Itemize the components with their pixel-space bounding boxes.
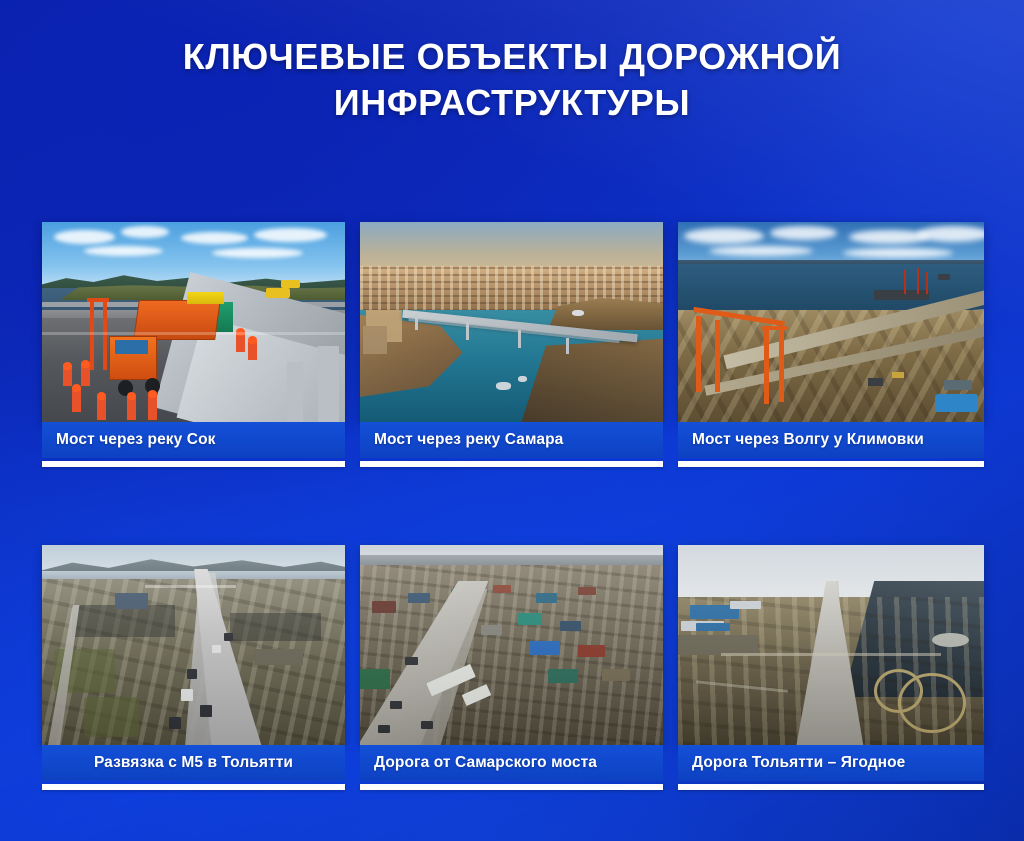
card-caption-text: Мост через реку Сок xyxy=(56,431,216,449)
sok-river-bridge-construction-photo xyxy=(42,222,345,422)
card-sok-bridge[interactable]: Мост через реку Сок xyxy=(42,222,345,468)
card-caption-text: Мост через реку Самара xyxy=(374,431,563,449)
card-underline xyxy=(360,461,663,467)
card-caption-text: Развязка с М5 в Тольятти xyxy=(94,754,293,772)
road-from-samara-bridge-photo xyxy=(360,545,663,745)
togliatti-yagodnoye-road-photo xyxy=(678,545,984,745)
card-caption-text: Мост через Волгу у Климовки xyxy=(692,431,924,449)
card-caption-bar: Дорога от Самарского моста xyxy=(360,745,663,781)
card-togliatti-yagodnoye-road[interactable]: Дорога Тольятти – Ягодное xyxy=(678,545,984,791)
card-caption-bar: Дорога Тольятти – Ягодное xyxy=(678,745,984,781)
volga-klimovka-bridge-site-photo xyxy=(678,222,984,422)
card-samara-bridge[interactable]: Мост через реку Самара xyxy=(360,222,663,468)
cards-grid: Мост через реку Сок Мост ч xyxy=(42,222,982,800)
card-caption-text: Дорога от Самарского моста xyxy=(374,754,597,772)
card-underline xyxy=(42,461,345,467)
card-caption-bar: Мост через Волгу у Климовки xyxy=(678,422,984,458)
page-title: КЛЮЧЕВЫЕ ОБЪЕКТЫ ДОРОЖНОЙ ИНФРАСТРУКТУРЫ xyxy=(0,34,1024,126)
card-m5-interchange[interactable]: Развязка с М5 в Тольятти xyxy=(42,545,345,791)
card-caption-text: Дорога Тольятти – Ягодное xyxy=(692,754,905,772)
card-caption-bar: Развязка с М5 в Тольятти xyxy=(42,745,345,781)
card-underline xyxy=(678,784,984,790)
card-caption-bar: Мост через реку Самара xyxy=(360,422,663,458)
card-klimovka-bridge[interactable]: Мост через Волгу у Климовки xyxy=(678,222,984,468)
card-caption-bar: Мост через реку Сок xyxy=(42,422,345,458)
row-gap-spacer xyxy=(42,468,984,545)
card-underline xyxy=(42,784,345,790)
m5-interchange-togliatti-photo xyxy=(42,545,345,745)
card-underline xyxy=(360,784,663,790)
title-block: КЛЮЧЕВЫЕ ОБЪЕКТЫ ДОРОЖНОЙ ИНФРАСТРУКТУРЫ xyxy=(0,34,1024,126)
samara-river-bridge-aerial-photo xyxy=(360,222,663,422)
card-underline xyxy=(678,461,984,467)
card-road-from-samara-bridge[interactable]: Дорога от Самарского моста xyxy=(360,545,663,791)
